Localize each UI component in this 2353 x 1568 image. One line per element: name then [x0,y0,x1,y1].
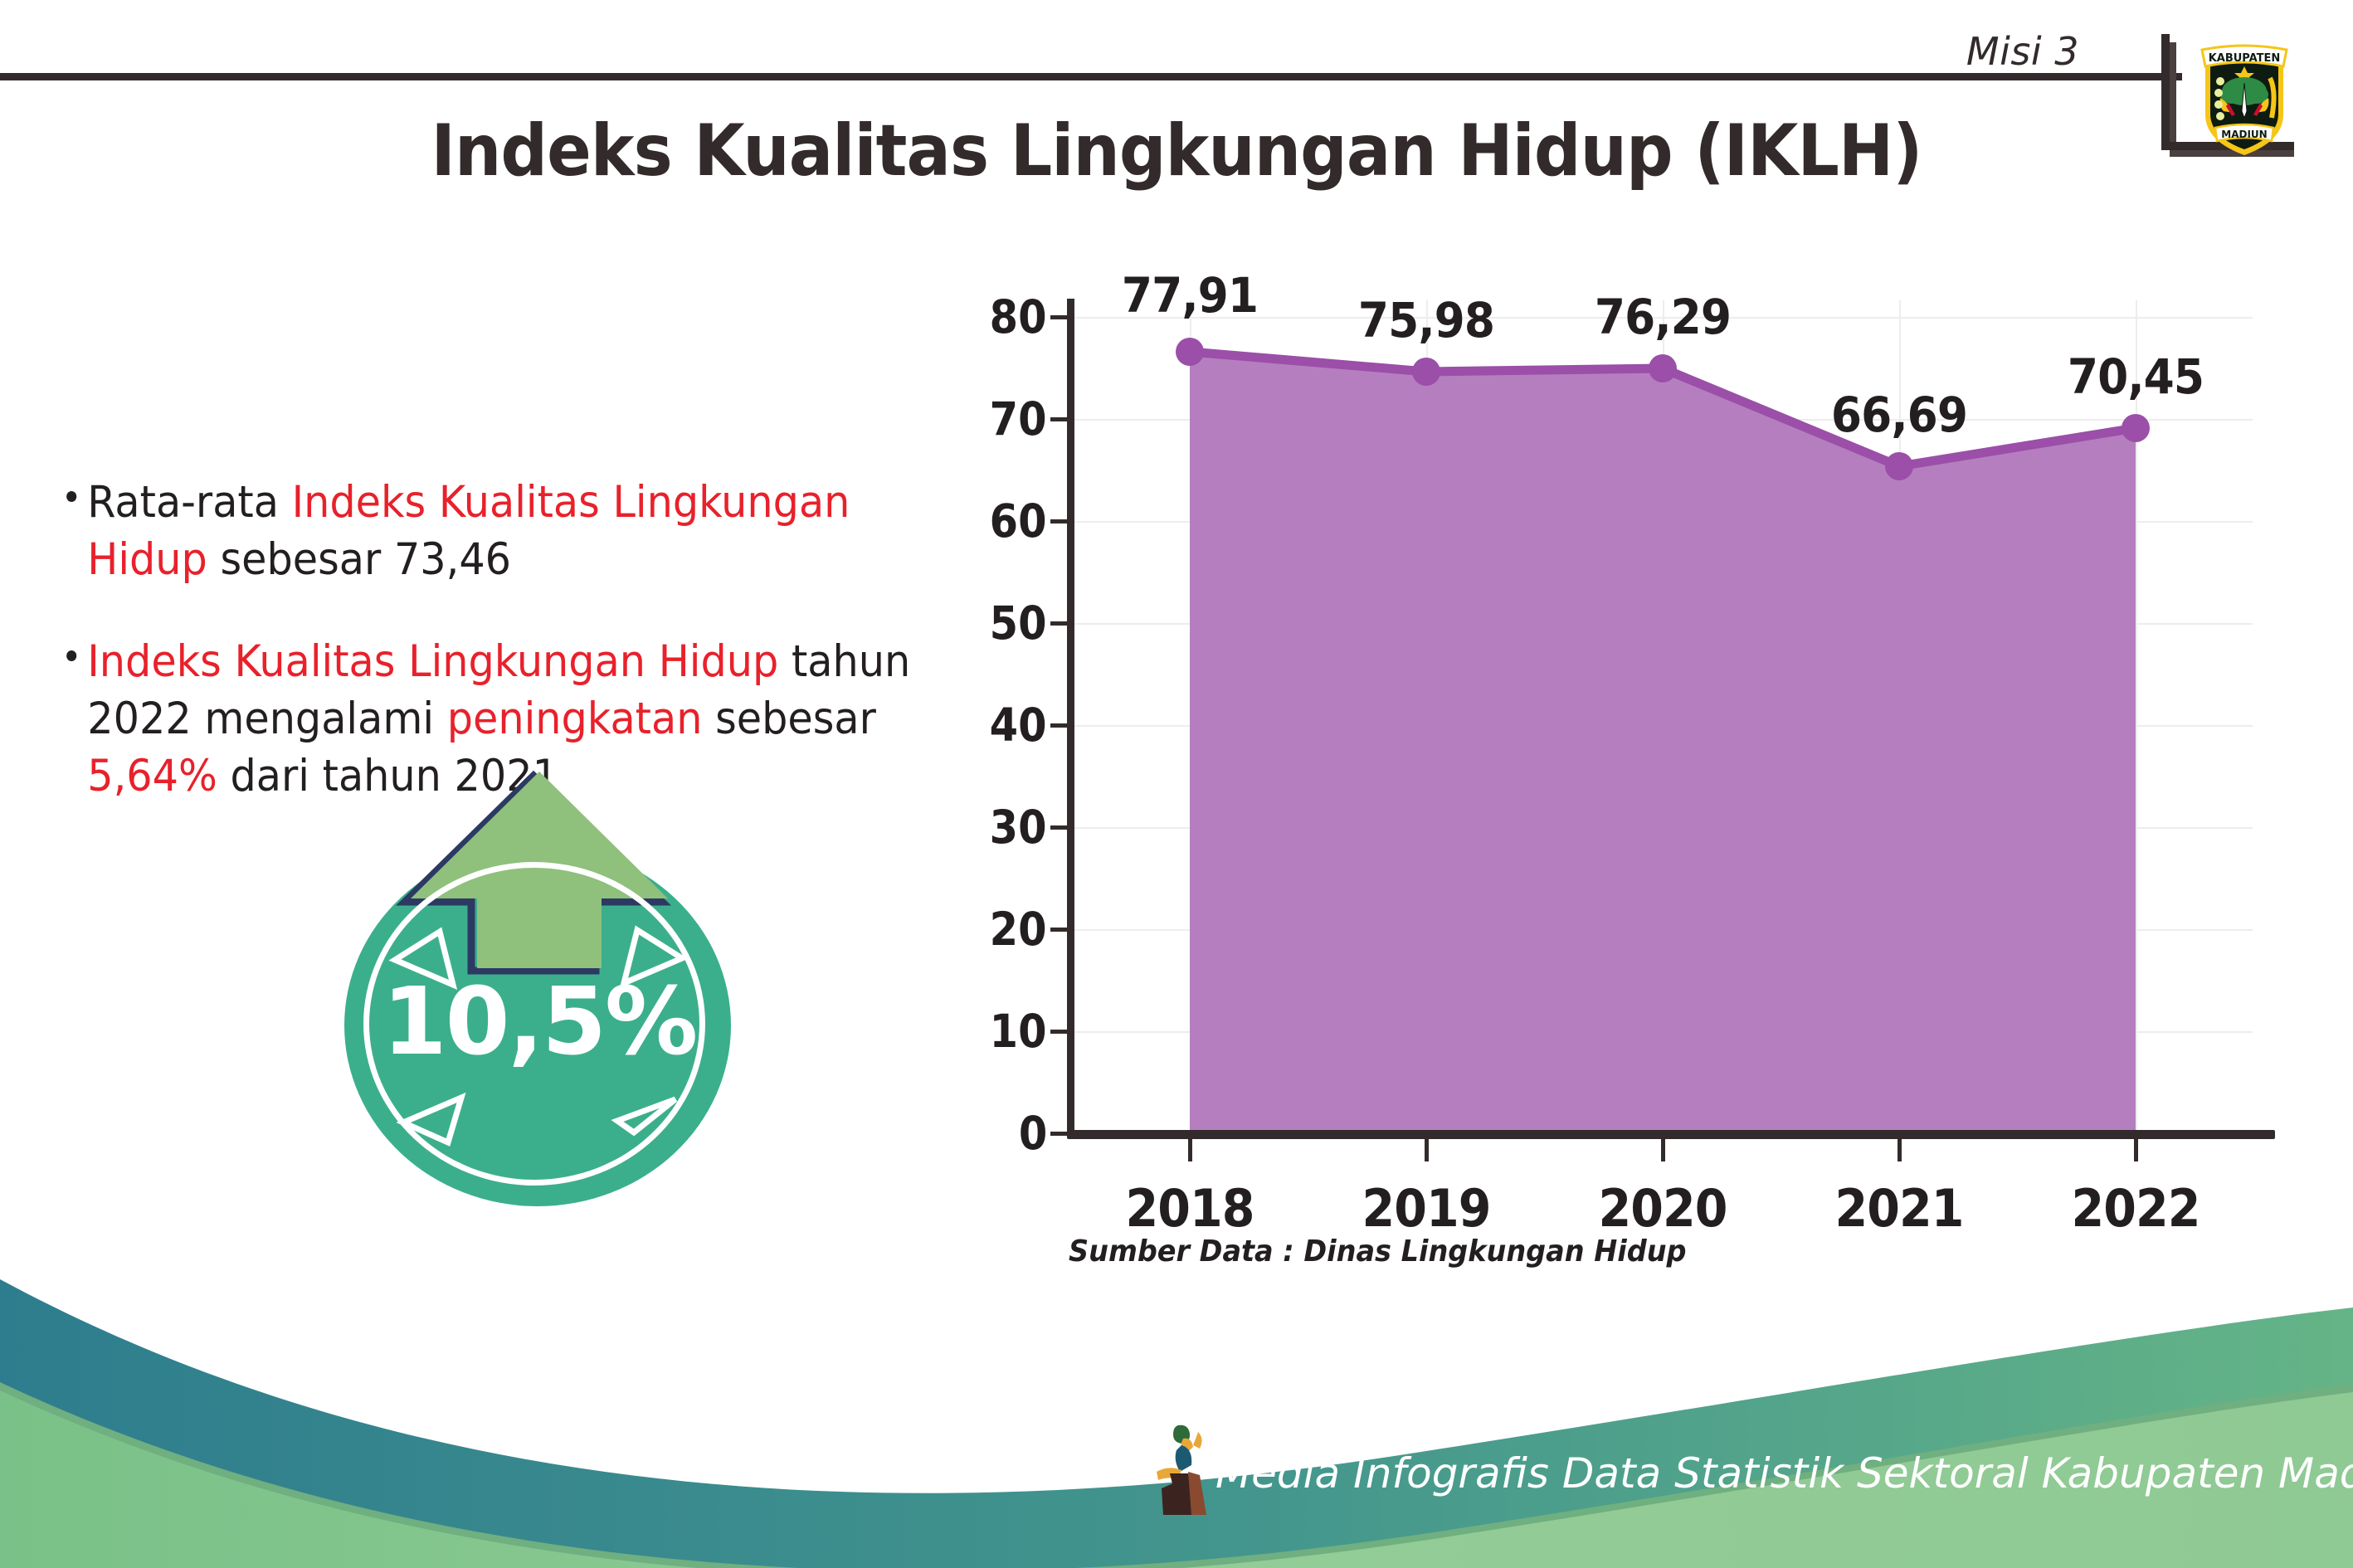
chart-y-axis [1067,299,1074,1137]
list-item: Rata-rata Indeks Kualitas Lingkungan Hid… [68,475,933,589]
media-infografis-logo-icon [1145,1420,1224,1520]
y-axis-label-30: 30 [990,801,1047,854]
bullet-2-part-0: Indeks Kualitas Lingkungan Hidup [87,636,778,687]
y-axis-label-40: 40 [990,699,1047,752]
y-axis-label-80: 80 [990,290,1047,343]
x-axis-label-2019: 2019 [1335,1178,1518,1239]
bullet-2-part-4: 5,64% [87,751,217,801]
iklh-area-chart: 0 10 20 30 40 50 60 70 80 2018 2019 2020… [979,282,2273,1178]
growth-badge: 10,5% [332,751,747,1215]
y-axis-label-0: 0 [1019,1107,1047,1160]
bullet-dot-icon [66,491,76,502]
data-label-2022: 70,45 [2044,348,2228,405]
bullet-dot-icon [66,650,76,661]
x-axis-label-2021: 2021 [1808,1178,1991,1239]
y-axis-label-10: 10 [990,1005,1047,1058]
chart-series-area [1072,300,2253,1135]
data-label-2020: 76,29 [1571,289,1755,345]
data-label-2019: 75,98 [1335,292,1518,348]
header-rule [0,73,2182,80]
badge-tick-bottom-left-icon [397,1083,471,1149]
svg-text:KABUPATEN: KABUPATEN [2209,52,2281,65]
bullet-1-part-0: Rata-rata [87,477,291,528]
chart-plot-area [1072,300,2253,1135]
data-label-2018: 77,91 [1099,267,1282,324]
badge-value: 10,5% [332,968,747,1076]
footer-text: Media Infografis Data Statistik Sektoral… [1215,1449,2353,1497]
y-axis-label-50: 50 [990,597,1047,650]
y-axis-label-70: 70 [990,392,1047,446]
mission-label: Misi 3 [1966,29,2079,74]
y-axis-label-60: 60 [990,494,1047,548]
x-axis-label-2018: 2018 [1099,1178,1282,1239]
page-title: Indeks Kualitas Lingkungan Hidup (IKLH) [94,110,2258,192]
badge-tick-bottom-right-icon [607,1074,682,1141]
bullet-2-part-3: sebesar [702,694,875,744]
x-axis-label-2020: 2020 [1571,1178,1755,1239]
chart-x-axis [1067,1130,2275,1139]
x-axis-label-2022: 2022 [2044,1178,2228,1239]
data-label-2021: 66,69 [1808,387,1991,443]
bullet-2-part-2: peningkatan [447,694,703,744]
bullet-1-part-2: sebesar 73,46 [207,534,511,585]
y-axis-label-20: 20 [990,903,1047,956]
